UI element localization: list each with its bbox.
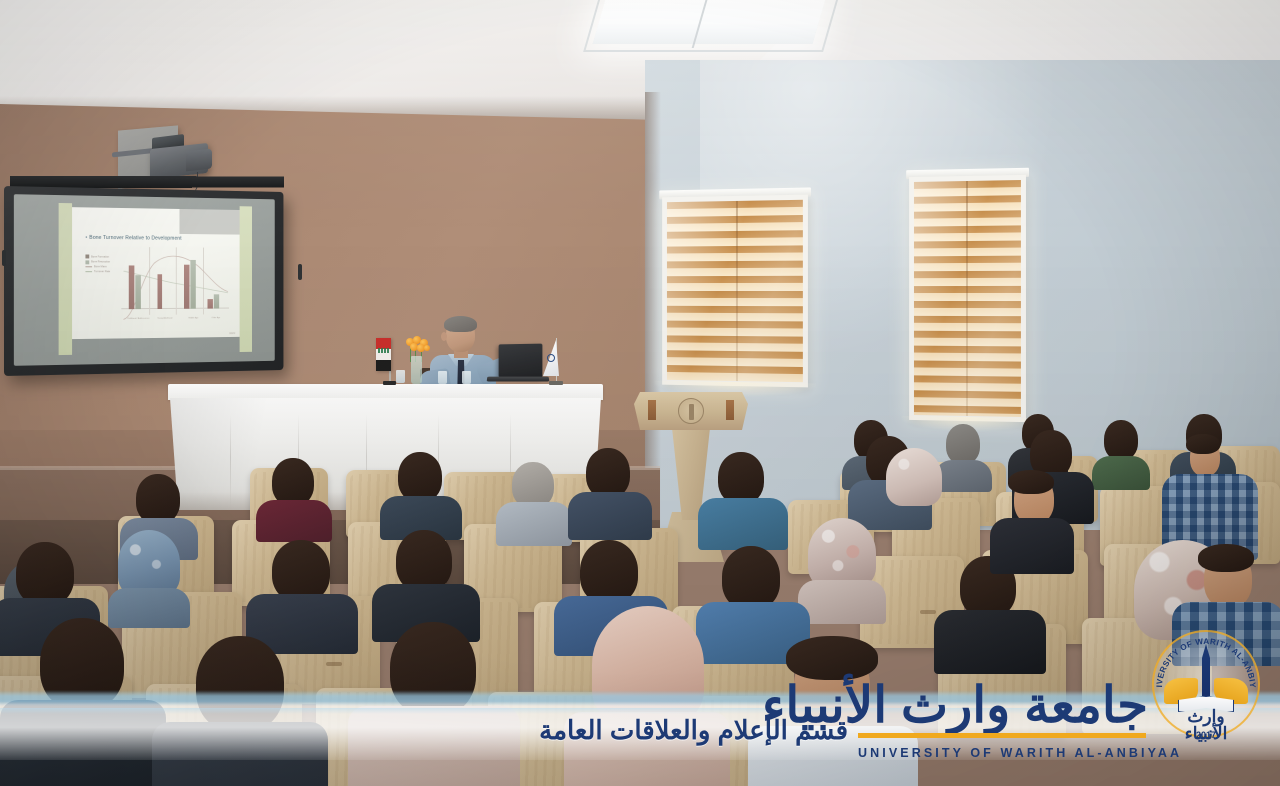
university-name-english: UNIVERSITY OF WARITH AL-ANBIYAA: [858, 746, 1146, 760]
university-name-arabic: جامعة وارث الأنبياء: [762, 680, 1148, 730]
university-seal: UNIVERSITY OF WARITH AL-ANBIYAA وارث الأ…: [1148, 626, 1264, 758]
seal-core: وارث الأنبياء 2017: [1168, 642, 1244, 738]
university-wordmark: جامعة وارث الأنبياء UNIVERSITY OF WARITH…: [852, 654, 1152, 764]
seal-sword-icon: [1202, 644, 1210, 696]
wordmark-underline: [858, 733, 1146, 738]
lecture-hall-photograph: •Bone Turnover Relative to Development B…: [0, 0, 1280, 786]
seal-year: 2017: [1168, 730, 1244, 740]
